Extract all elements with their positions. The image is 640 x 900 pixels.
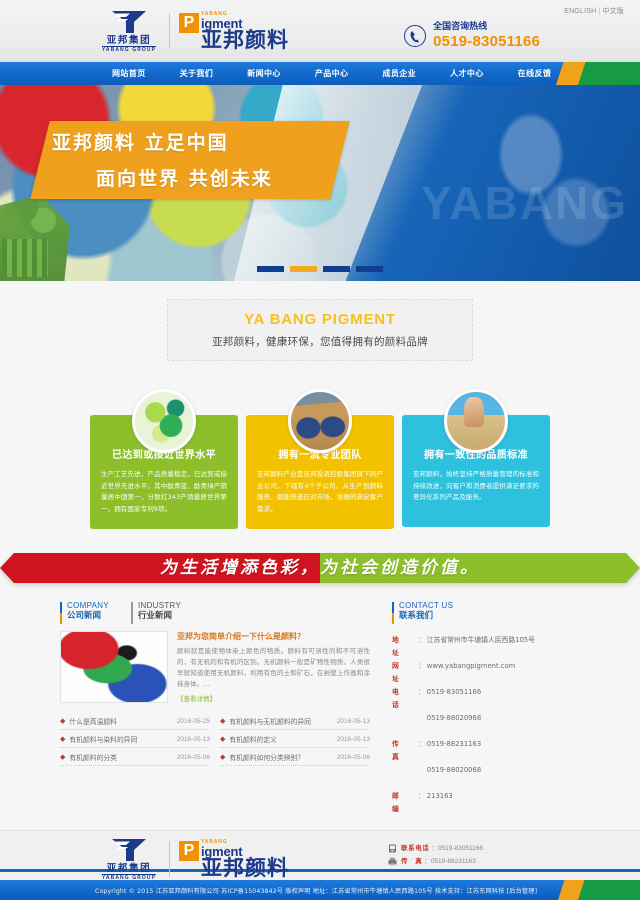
footer-logo-divider bbox=[169, 841, 170, 877]
news-title[interactable]: 什么是高温颜料 bbox=[69, 716, 171, 726]
bullet-icon: ◆ bbox=[220, 736, 225, 743]
slider-dot-1[interactable] bbox=[257, 266, 284, 272]
contact-value: 213163 bbox=[427, 790, 453, 816]
contact-heading-en: CONTACT US bbox=[399, 601, 560, 611]
copyright-decoration bbox=[558, 880, 640, 900]
y-mark-icon bbox=[108, 9, 150, 35]
nav-item-products[interactable]: 产品中心 bbox=[298, 62, 366, 85]
intro-section: YA BANG PIGMENT 亚邦颜料，健康环保，您值得拥有的颜料品牌 bbox=[0, 281, 640, 363]
footer-phone-label: 联系电话 bbox=[401, 842, 429, 855]
pigment-p-badge-icon: P bbox=[179, 841, 199, 861]
news-lists: ◆ 什么是高温颜料 2016-05-25 ◆ 有机颜料与染料的异同 2016-0… bbox=[60, 712, 370, 766]
nav-green-block bbox=[578, 62, 640, 85]
contact-row-website: 网 址 ： www.yabangpigment.com bbox=[392, 660, 560, 686]
page-root: ENGLISH|中文版 亚邦集团 YABANG GROUP P YABANG bbox=[0, 0, 640, 831]
news-date: 2016-05-25 bbox=[177, 718, 210, 725]
contact-label: 地 址 bbox=[392, 634, 418, 660]
banner-slogan-line1: 亚邦颜料 立足中国 bbox=[52, 132, 229, 154]
pigment-name-cn: 亚邦颜料 bbox=[201, 29, 289, 51]
news-date: 2016-05-13 bbox=[337, 718, 370, 725]
site-logo[interactable]: 亚邦集团 YABANG GROUP P YABANG igment 亚邦颜料 bbox=[98, 9, 289, 53]
news-title[interactable]: 有机颜料如何分类辨别？ bbox=[229, 752, 331, 762]
footer-divider bbox=[0, 869, 640, 872]
copyright-bar: Copyright © 2015 江苏亚邦颜料有限公司 苏ICP备1504384… bbox=[0, 880, 640, 900]
news-list-left: ◆ 什么是高温颜料 2016-05-25 ◆ 有机颜料与染料的异同 2016-0… bbox=[60, 712, 210, 766]
intro-box: YA BANG PIGMENT 亚邦颜料，健康环保，您值得拥有的颜料品牌 bbox=[167, 299, 473, 361]
top-header: ENGLISH|中文版 亚邦集团 YABANG GROUP P YABANG bbox=[0, 0, 640, 62]
nav-item-members[interactable]: 成员企业 bbox=[365, 62, 433, 85]
banner-slogan-line2: 面向世界 共创未来 bbox=[52, 161, 352, 197]
featured-news-more-link[interactable]: 【查看详情】 bbox=[177, 693, 216, 703]
news-list-right: ◆ 有机颜料与无机颜料的异同 2016-05-13 ◆ 有机颜料的定义 2016… bbox=[220, 712, 370, 766]
nav-item-news[interactable]: 新闻中心 bbox=[230, 62, 298, 85]
featured-news-thumbnail[interactable] bbox=[60, 631, 168, 703]
lang-chinese-link[interactable]: 中文版 bbox=[602, 8, 624, 15]
main-navigation: 网站首页 关于我们 新闻中心 产品中心 成员企业 人才中心 在线反馈 联系我们 bbox=[0, 62, 640, 85]
featured-news-desc: 颜料就是能使物体染上颜色的物质。颜料有可溶性的和不可溶性的，有无机的和有机的区别… bbox=[177, 646, 370, 690]
contact-heading-cn: 联系我们 bbox=[399, 611, 560, 622]
globe-icon bbox=[132, 389, 196, 453]
tab-label-en: INDUSTRY bbox=[138, 601, 181, 611]
contact-row-fax-2: 传 真 ： 0519-88020068 bbox=[392, 764, 560, 790]
group-name-en: YABANG GROUP bbox=[102, 46, 156, 53]
list-item[interactable]: ◆ 什么是高温颜料 2016-05-25 bbox=[60, 712, 210, 730]
language-switcher: ENGLISH|中文版 bbox=[564, 6, 624, 16]
list-item[interactable]: ◆ 有机颜料与染料的异同 2016-05-13 bbox=[60, 730, 210, 748]
banner-slider-indicators bbox=[0, 266, 640, 272]
contact-colon: ： bbox=[418, 738, 425, 764]
contact-value: 0519-88020968 bbox=[427, 712, 481, 738]
ribbon-text: 为生活增添色彩，为社会创造价值。 bbox=[0, 553, 640, 583]
yabang-pigment-logo[interactable]: P YABANG igment 亚邦颜料 bbox=[179, 11, 289, 51]
contact-label: 传 真 bbox=[392, 738, 418, 764]
list-item[interactable]: ◆ 有机颜料的定义 2016-05-13 bbox=[220, 730, 370, 748]
news-title[interactable]: 有机颜料与无机颜料的异同 bbox=[229, 716, 331, 726]
feature-card-world-level[interactable]: 已达到或接近世界水平 生产工艺先进，产品质量稳定，已达到或接近世界先进水平，其中… bbox=[90, 389, 238, 529]
intro-title-cn: 亚邦颜料，健康环保，您值得拥有的颜料品牌 bbox=[176, 334, 464, 349]
footer-phone-value: 0519-83051166 bbox=[438, 842, 483, 855]
footer-logo[interactable]: 亚邦集团 YABANG GROUP P YABANG igment 亚邦颜料 bbox=[98, 837, 289, 881]
list-item[interactable]: ◆ 有机颜料的分类 2016-05-06 bbox=[60, 748, 210, 766]
bullet-icon: ◆ bbox=[60, 754, 65, 761]
tab-label-cn: 公司新闻 bbox=[67, 611, 109, 622]
news-title[interactable]: 有机颜料与染料的异同 bbox=[69, 734, 171, 744]
tab-label-en: COMPANY bbox=[67, 601, 109, 611]
slider-dot-3[interactable] bbox=[323, 266, 350, 272]
news-date: 2016-05-13 bbox=[177, 736, 210, 743]
footer-fax-label: 传 真 bbox=[401, 855, 422, 868]
nav-decoration bbox=[556, 62, 640, 85]
contact-colon: ： bbox=[418, 790, 425, 816]
contact-colon: ： bbox=[418, 686, 425, 712]
bullet-icon: ◆ bbox=[60, 736, 65, 743]
contact-heading: CONTACT US 联系我们 bbox=[392, 601, 560, 622]
bullet-icon: ◆ bbox=[220, 718, 225, 725]
y-mark-icon bbox=[108, 837, 150, 863]
feature-card-text: 生产工艺先进，产品质量稳定，已达到或接近世界先进水平，其中酞青蓝、酞青绿产销量居… bbox=[101, 469, 227, 515]
contact-row-phone-1: 电 话 ： 0519-83051166 bbox=[392, 686, 560, 712]
copyright-green-block bbox=[578, 880, 640, 900]
fax-icon bbox=[388, 857, 397, 866]
contact-row-fax-1: 传 真 ： 0519-88231163 bbox=[392, 738, 560, 764]
contact-row-phone-2: 电 话 ： 0519-88020968 bbox=[392, 712, 560, 738]
tab-label-cn: 行业新闻 bbox=[138, 611, 181, 622]
slogan-ribbon: 为生活增添色彩，为社会创造价值。 bbox=[0, 551, 640, 595]
feature-card-text: 亚邦颜料，始终坚持严格质量管理的标准和持续改进，向客户和消费者提供满足要求的差异… bbox=[413, 469, 539, 504]
hotline-label: 全国咨询热线 bbox=[433, 22, 540, 33]
news-date: 2016-05-06 bbox=[337, 754, 370, 761]
contact-colon: ： bbox=[418, 660, 425, 686]
contact-label: 电 话 bbox=[392, 686, 418, 712]
quality-hand-icon bbox=[444, 389, 508, 453]
hotline-block: 全国咨询热线 0519-83051166 bbox=[404, 22, 540, 50]
slider-dot-2[interactable] bbox=[290, 266, 317, 272]
feature-cards: 已达到或接近世界水平 生产工艺先进，产品质量稳定，已达到或接近世界先进水平，其中… bbox=[0, 363, 640, 551]
nav-items: 网站首页 关于我们 新闻中心 产品中心 成员企业 人才中心 在线反馈 联系我们 bbox=[95, 62, 636, 85]
nav-item-talent[interactable]: 人才中心 bbox=[433, 62, 501, 85]
hotline-number: 0519-83051166 bbox=[433, 33, 540, 50]
bullet-icon: ◆ bbox=[60, 718, 65, 725]
contact-colon: ： bbox=[418, 634, 425, 660]
contact-value: 0519-88020068 bbox=[427, 764, 481, 790]
news-title[interactable]: 有机颜料的定义 bbox=[229, 734, 331, 744]
feature-card-quality[interactable]: 拥有一致性的品质标准 亚邦颜料，始终坚持严格质量管理的标准和持续改进，向客户和消… bbox=[402, 389, 550, 529]
contact-value: 0519-83051166 bbox=[427, 686, 481, 712]
footer-contact: 联系电话 ： 0519-83051166 传 真 ： 0519-88231163 bbox=[388, 842, 483, 868]
warehouse-workers-icon bbox=[288, 389, 352, 453]
contact-value: 0519-88231163 bbox=[427, 738, 481, 764]
tab-industry-news[interactable]: INDUSTRY 行业新闻 bbox=[131, 601, 181, 622]
news-block: COMPANY 公司新闻 INDUSTRY 行业新闻 亚邦为您简单介绍一下什么是… bbox=[60, 601, 370, 816]
banner-slogan-text: 亚邦颜料 立足中国 面向世界 共创未来 bbox=[52, 125, 352, 197]
hero-banner[interactable]: YABANG 亚邦颜料 立足中国 面向世界 共创未来 bbox=[0, 85, 640, 281]
featured-news[interactable]: 亚邦为您简单介绍一下什么是颜料？ 颜料就是能使物体染上颜色的物质。颜料有可溶性的… bbox=[60, 631, 370, 704]
pigment-p-badge-icon: P bbox=[179, 13, 199, 33]
feature-card-text: 亚邦颜料产业是亚邦投资控股集团旗下的产业公司，下辖有4个子公司，从生产到颜料服务… bbox=[257, 469, 383, 515]
phone-icon bbox=[404, 25, 426, 47]
contact-label: 邮 编 bbox=[392, 790, 418, 816]
nav-item-home[interactable]: 网站首页 bbox=[95, 62, 163, 85]
news-tabs: COMPANY 公司新闻 INDUSTRY 行业新闻 bbox=[60, 601, 370, 622]
footer-phone-row: 联系电话 ： 0519-83051166 bbox=[388, 842, 483, 855]
footer-pigment-name-cn: 亚邦颜料 bbox=[201, 857, 289, 879]
contact-label: 网 址 bbox=[392, 660, 418, 686]
middle-section: COMPANY 公司新闻 INDUSTRY 行业新闻 亚邦为您简单介绍一下什么是… bbox=[0, 595, 640, 830]
nav-item-about[interactable]: 关于我们 bbox=[163, 62, 231, 85]
contact-website-link[interactable]: www.yabangpigment.com bbox=[427, 660, 515, 686]
contact-block: CONTACT US 联系我们 地 址 ： 江苏省常州市牛塘镇人民西路105号 … bbox=[370, 601, 560, 816]
copyright-text: Copyright © 2015 江苏亚邦颜料有限公司 苏ICP备1504384… bbox=[95, 886, 537, 895]
lang-english-link[interactable]: ENGLISH bbox=[564, 8, 596, 15]
yabang-group-logo[interactable]: 亚邦集团 YABANG GROUP bbox=[98, 9, 160, 53]
intro-title-en: YA BANG PIGMENT bbox=[176, 310, 464, 329]
contact-row-address: 地 址 ： 江苏省常州市牛塘镇人民西路105号 bbox=[392, 634, 560, 660]
list-item[interactable]: ◆ 有机颜料如何分类辨别？ 2016-05-06 bbox=[220, 748, 370, 766]
logo-divider bbox=[169, 13, 170, 49]
lang-separator: | bbox=[598, 8, 600, 15]
footer: 亚邦集团 YABANG GROUP P YABANG igment 亚邦颜料 联… bbox=[0, 830, 640, 880]
footer-fax-row: 传 真 ： 0519-88231163 bbox=[388, 855, 483, 868]
group-name-cn: 亚邦集团 bbox=[107, 36, 151, 46]
feature-card-team[interactable]: 拥有一流专业团队 亚邦颜料产业是亚邦投资控股集团旗下的产业公司，下辖有4个子公司… bbox=[246, 389, 394, 529]
phone-icon bbox=[388, 844, 397, 853]
footer-fax-value: 0519-88231163 bbox=[431, 855, 476, 868]
banner-watermark: YABANG bbox=[421, 180, 628, 226]
list-item[interactable]: ◆ 有机颜料与无机颜料的异同 2016-05-13 bbox=[220, 712, 370, 730]
slider-dot-4[interactable] bbox=[356, 266, 383, 272]
footer-group-logo[interactable]: 亚邦集团 YABANG GROUP bbox=[98, 837, 160, 881]
news-date: 2016-05-06 bbox=[177, 754, 210, 761]
tab-company-news[interactable]: COMPANY 公司新闻 bbox=[60, 601, 109, 622]
news-date: 2016-05-13 bbox=[337, 736, 370, 743]
news-title[interactable]: 有机颜料的分类 bbox=[69, 752, 171, 762]
contact-row-postcode: 邮 编 ： 213163 bbox=[392, 790, 560, 816]
featured-news-title[interactable]: 亚邦为您简单介绍一下什么是颜料？ bbox=[177, 631, 370, 643]
footer-group-name-cn: 亚邦集团 bbox=[107, 864, 151, 874]
contact-value: 江苏省常州市牛塘镇人民西路105号 bbox=[427, 634, 535, 660]
footer-pigment-logo[interactable]: P YABANG igment 亚邦颜料 bbox=[179, 839, 289, 879]
bullet-icon: ◆ bbox=[220, 754, 225, 761]
